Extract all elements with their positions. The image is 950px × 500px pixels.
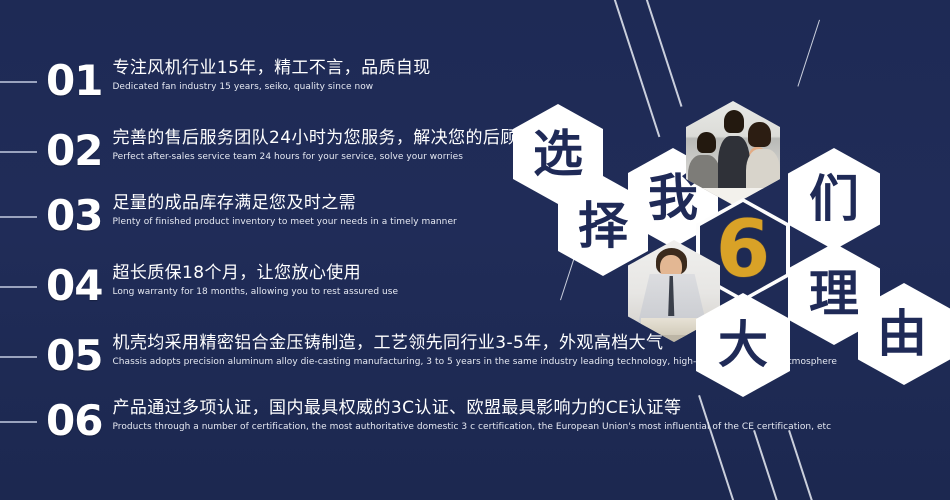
banner-canvas: 01 专注风机行业15年，精工不言，品质自现 Dedicated fan ind… — [0, 0, 950, 500]
hexagon-char: 选 — [533, 129, 583, 179]
hexagon-men: 们 — [788, 148, 880, 250]
hexagon-number: 6 — [716, 211, 770, 289]
hexagon-char: 们 — [809, 174, 859, 224]
hexagon-char: 大 — [718, 320, 768, 370]
hexagon-char: 择 — [578, 201, 628, 251]
hexagon-char: 理 — [809, 269, 859, 319]
hexagon-char: 由 — [877, 309, 927, 359]
hexagon-cluster: 选 择 我 6 们 — [0, 0, 950, 500]
